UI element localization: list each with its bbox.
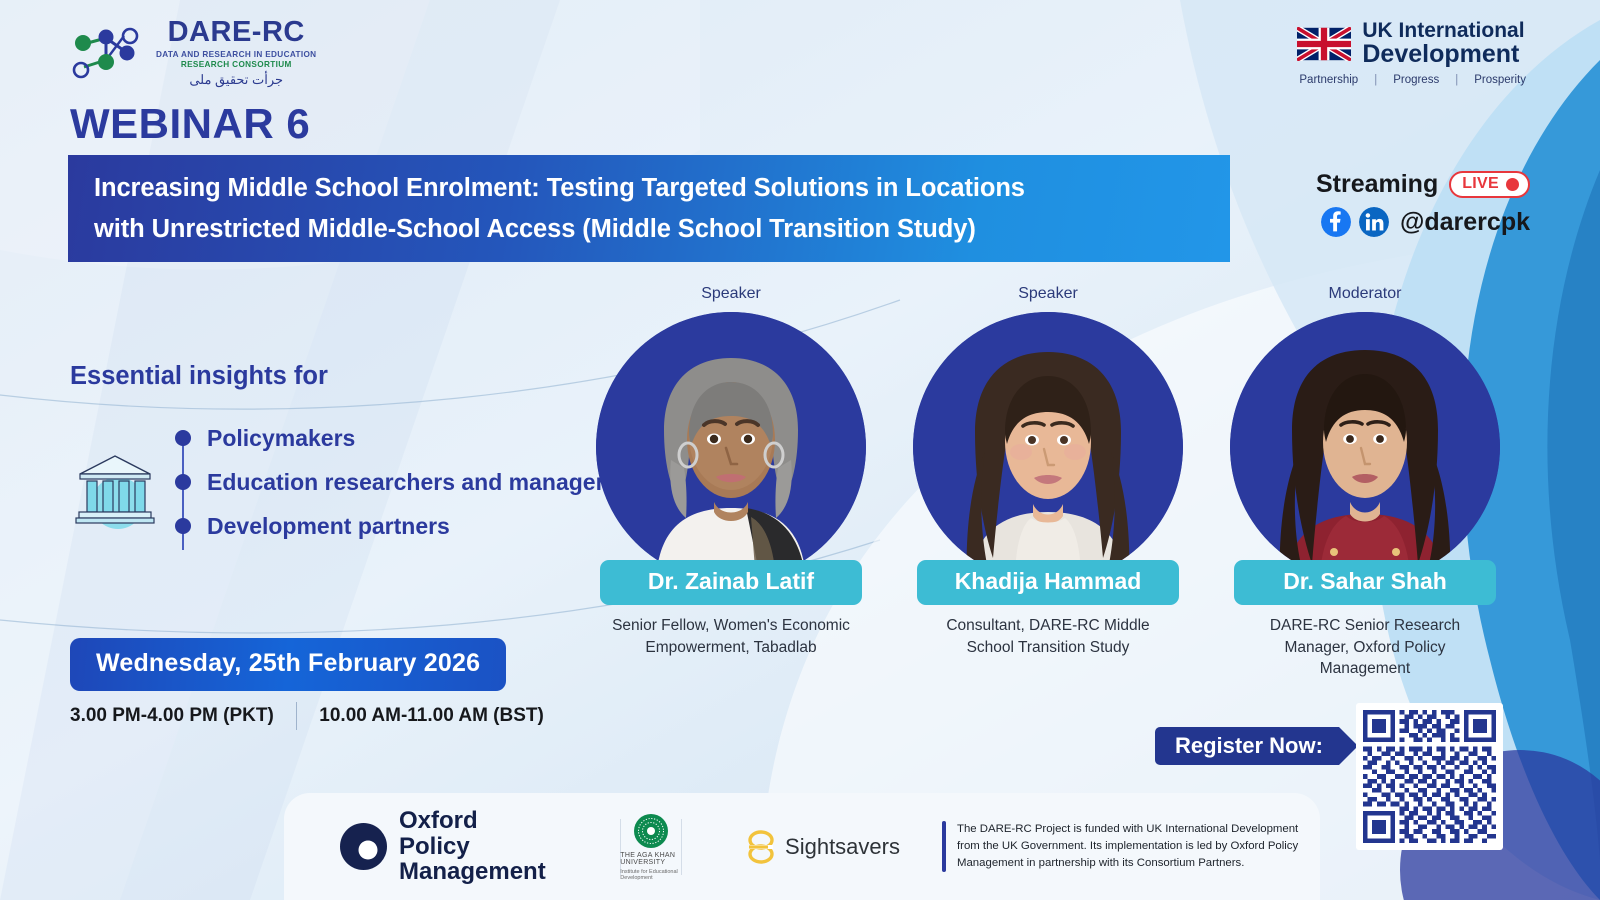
- partner-logo-opm: Oxford Policy Management: [340, 808, 546, 884]
- list-item: Education researchers and managers: [175, 468, 617, 498]
- streaming-label: Streaming: [1316, 170, 1438, 199]
- speaker-name-1: Dr. Zainab Latif: [600, 560, 862, 605]
- streaming-info: Streaming LIVE @darercpk: [1316, 170, 1530, 237]
- event-times: 3.00 PM-4.00 PM (PKT) 10.00 AM-11.00 AM …: [70, 702, 544, 730]
- partner-logo-aga-khan: THE AGA KHAN UNIVERSITY Institute for Ed…: [620, 813, 681, 881]
- webinar-number: WEBINAR 6: [70, 100, 310, 148]
- list-item: Policymakers: [175, 424, 617, 454]
- tagline-progress: Progress: [1393, 74, 1439, 86]
- sightsavers-logo-icon: [746, 830, 776, 864]
- speaker-role-2: Speaker: [1018, 285, 1078, 303]
- time-divider: [296, 702, 298, 730]
- speaker-card-2: Speaker: [913, 285, 1183, 680]
- logo-subtitle-2: RESEARCH CONSORTIUM: [181, 60, 292, 69]
- speaker-title-2: Consultant, DARE-RC Middle School Transi…: [923, 615, 1173, 658]
- footer-divider-2: [681, 819, 682, 875]
- network-nodes-icon: [68, 22, 146, 84]
- union-jack-flag-icon: [1297, 27, 1351, 61]
- dare-rc-logo: DARE-RC DATA AND RESEARCH IN EDUCATION R…: [68, 18, 316, 88]
- tagline-separator-1: |: [1374, 74, 1377, 86]
- record-dot-icon: [1506, 178, 1519, 191]
- sightsavers-label: Sightsavers: [785, 834, 900, 860]
- live-badge: LIVE: [1449, 171, 1530, 198]
- insight-label-3: Development partners: [207, 512, 450, 542]
- live-text: LIVE: [1462, 175, 1499, 193]
- title-line-1: Increasing Middle School Enrolment: Test…: [94, 168, 1204, 208]
- insight-label-1: Policymakers: [207, 424, 355, 454]
- time-pkt: 3.00 PM-4.00 PM (PKT): [70, 705, 274, 727]
- moderator-name: Dr. Sahar Shah: [1234, 560, 1496, 605]
- classical-building-icon: [74, 448, 156, 530]
- funding-disclaimer: The DARE-RC Project is funded with UK In…: [942, 821, 1302, 873]
- funder-line1: UK International: [1362, 20, 1524, 41]
- footer-partners-bar: Oxford Policy Management THE AGA KHAN UN…: [284, 793, 1320, 900]
- aga-khan-logo-icon: [633, 813, 669, 849]
- aga-khan-line1: THE AGA KHAN UNIVERSITY: [620, 852, 681, 866]
- moderator-title: DARE-RC Senior Research Manager, Oxford …: [1240, 615, 1490, 680]
- moderator-role: Moderator: [1329, 285, 1402, 303]
- linkedin-icon[interactable]: [1359, 207, 1389, 237]
- register-now-button[interactable]: Register Now:: [1155, 727, 1339, 765]
- disclaimer-text: The DARE-RC Project is funded with UK In…: [957, 821, 1302, 873]
- logo-subtitle-1: DATA AND RESEARCH IN EDUCATION: [156, 50, 316, 59]
- speaker-title-1: Senior Fellow, Women's Economic Empowerm…: [606, 615, 856, 658]
- qr-code-icon[interactable]: [1356, 703, 1503, 850]
- insight-label-2: Education researchers and managers: [207, 468, 617, 498]
- partner-logo-sightsavers: Sightsavers: [746, 830, 900, 864]
- bullet-dot-icon: [175, 474, 191, 490]
- disclaimer-accent-bar: [942, 821, 946, 873]
- opm-logo-icon: [340, 823, 387, 870]
- tagline-separator-2: |: [1455, 74, 1458, 86]
- tagline-prosperity: Prosperity: [1474, 74, 1526, 86]
- tagline-partnership: Partnership: [1299, 74, 1358, 86]
- funder-line2: Development: [1362, 42, 1524, 67]
- speaker-card-3: Moderator: [1230, 285, 1500, 680]
- list-item: Development partners: [175, 512, 617, 542]
- bullet-dot-icon: [175, 430, 191, 446]
- uk-international-development-logo: UK International Development Partnership…: [1297, 20, 1526, 86]
- avatar: [1230, 312, 1500, 582]
- avatar: [913, 312, 1183, 582]
- time-bst: 10.00 AM-11.00 AM (BST): [319, 705, 544, 727]
- title-line-2: with Unrestricted Middle-School Access (…: [94, 209, 1204, 249]
- avatar: [596, 312, 866, 582]
- speaker-role-1: Speaker: [701, 285, 761, 303]
- speakers-section: Speaker: [596, 285, 1500, 680]
- insights-list: Policymakers Education researchers and m…: [175, 424, 617, 542]
- opm-line1: Oxford Policy: [399, 808, 546, 859]
- speaker-card-1: Speaker: [596, 285, 866, 680]
- facebook-icon[interactable]: [1321, 207, 1351, 237]
- webinar-title-banner: Increasing Middle School Enrolment: Test…: [68, 155, 1230, 262]
- logo-title: DARE-RC: [168, 18, 305, 47]
- social-handle[interactable]: @darercpk: [1400, 208, 1530, 237]
- bullet-dot-icon: [175, 518, 191, 534]
- speaker-name-2: Khadija Hammad: [917, 560, 1179, 605]
- logo-arabic-text: جرأت تحقیق ملی: [189, 72, 283, 88]
- funder-tagline: Partnership | Progress | Prosperity: [1299, 74, 1526, 86]
- event-date-badge: Wednesday, 25th February 2026: [70, 638, 506, 691]
- aga-khan-line2: Institute for Educational Development: [620, 869, 681, 881]
- insights-heading: Essential insights for: [70, 362, 328, 391]
- opm-line2: Management: [399, 859, 546, 884]
